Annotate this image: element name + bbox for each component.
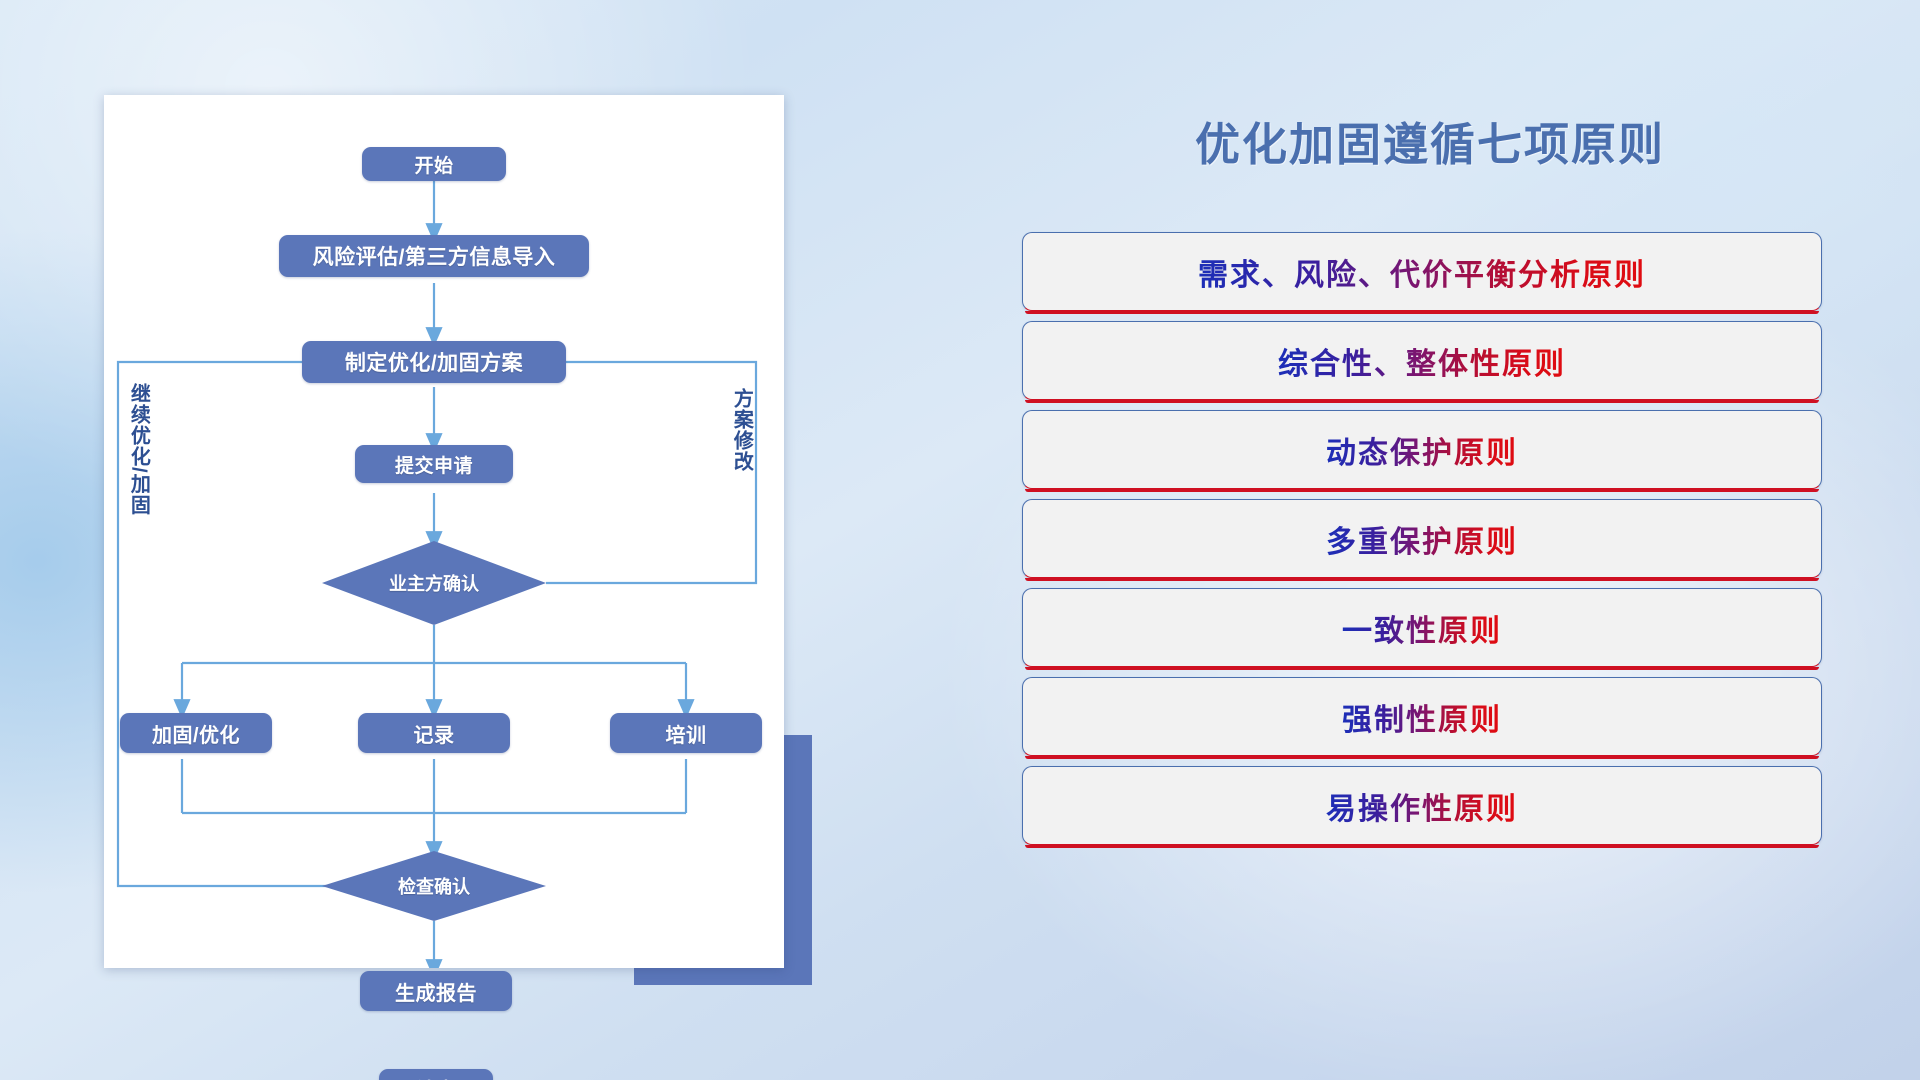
principle-card[interactable]: 动态保护原则 bbox=[1022, 410, 1822, 489]
principle-label: 动态保护原则 bbox=[1326, 428, 1518, 472]
principle-card[interactable]: 强制性原则 bbox=[1022, 677, 1822, 756]
flow-node-label: 开始 bbox=[414, 151, 453, 178]
principle-label: 综合性、整体性原则 bbox=[1278, 339, 1566, 383]
flow-node-label: 加固/优化 bbox=[152, 719, 240, 748]
flowchart-card: 开始 风险评估/第三方信息导入 制定优化/加固方案 提交申请 业主方确认 加固/… bbox=[104, 95, 784, 968]
principle-label: 强制性原则 bbox=[1342, 695, 1502, 739]
principle-card[interactable]: 易操作性原则 bbox=[1022, 766, 1822, 845]
flow-node-generate-report[interactable]: 生成报告 bbox=[360, 971, 512, 1011]
flow-node-submit-application[interactable]: 提交申请 bbox=[355, 445, 513, 483]
principle-label: 需求、风险、代价平衡分析原则 bbox=[1198, 250, 1646, 294]
principle-label: 多重保护原则 bbox=[1326, 517, 1518, 561]
flow-node-label: 风险评估/第三方信息导入 bbox=[313, 241, 556, 271]
flow-node-start[interactable]: 开始 bbox=[362, 147, 506, 181]
principle-label: 易操作性原则 bbox=[1326, 784, 1518, 828]
principle-card[interactable]: 多重保护原则 bbox=[1022, 499, 1822, 578]
flow-node-label: 记录 bbox=[414, 719, 455, 748]
flow-edge-label-continue-optimize: 继续优化/加固 bbox=[128, 383, 148, 516]
flow-node-label: 制定优化/加固方案 bbox=[345, 347, 523, 377]
flow-node-plan[interactable]: 制定优化/加固方案 bbox=[302, 341, 566, 383]
flow-node-record[interactable]: 记录 bbox=[358, 713, 510, 753]
flow-node-reinforce[interactable]: 加固/优化 bbox=[120, 713, 272, 753]
flow-node-label: 检查确认 bbox=[398, 873, 470, 899]
flowchart: 开始 风险评估/第三方信息导入 制定优化/加固方案 提交申请 业主方确认 加固/… bbox=[104, 95, 784, 968]
flowchart-connectors bbox=[104, 95, 784, 968]
flow-decision-owner-confirm[interactable]: 业主方确认 bbox=[322, 541, 546, 625]
slide-canvas: 开始 风险评估/第三方信息导入 制定优化/加固方案 提交申请 业主方确认 加固/… bbox=[0, 0, 1920, 1080]
principles-list: 需求、风险、代价平衡分析原则 综合性、整体性原则 动态保护原则 多重保护原则 一… bbox=[1022, 232, 1822, 855]
principle-card[interactable]: 综合性、整体性原则 bbox=[1022, 321, 1822, 400]
flow-node-training[interactable]: 培训 bbox=[610, 713, 762, 753]
flow-decision-inspection-confirm[interactable]: 检查确认 bbox=[322, 851, 546, 921]
principles-title: 优化加固遵循七项原则 bbox=[1035, 108, 1825, 173]
flow-node-label: 生成报告 bbox=[395, 977, 477, 1006]
flow-node-risk-assessment[interactable]: 风险评估/第三方信息导入 bbox=[279, 235, 589, 277]
flow-node-label: 结束 bbox=[416, 1074, 457, 1080]
flow-node-label: 业主方确认 bbox=[389, 570, 479, 596]
flow-edge-label-plan-revision: 方案修改 bbox=[731, 388, 751, 472]
flow-node-label: 培训 bbox=[666, 719, 707, 748]
principle-card[interactable]: 需求、风险、代价平衡分析原则 bbox=[1022, 232, 1822, 311]
principle-card[interactable]: 一致性原则 bbox=[1022, 588, 1822, 667]
flow-node-label: 提交申请 bbox=[395, 451, 473, 478]
flow-node-end[interactable]: 结束 bbox=[379, 1069, 493, 1080]
principle-label: 一致性原则 bbox=[1342, 606, 1502, 650]
